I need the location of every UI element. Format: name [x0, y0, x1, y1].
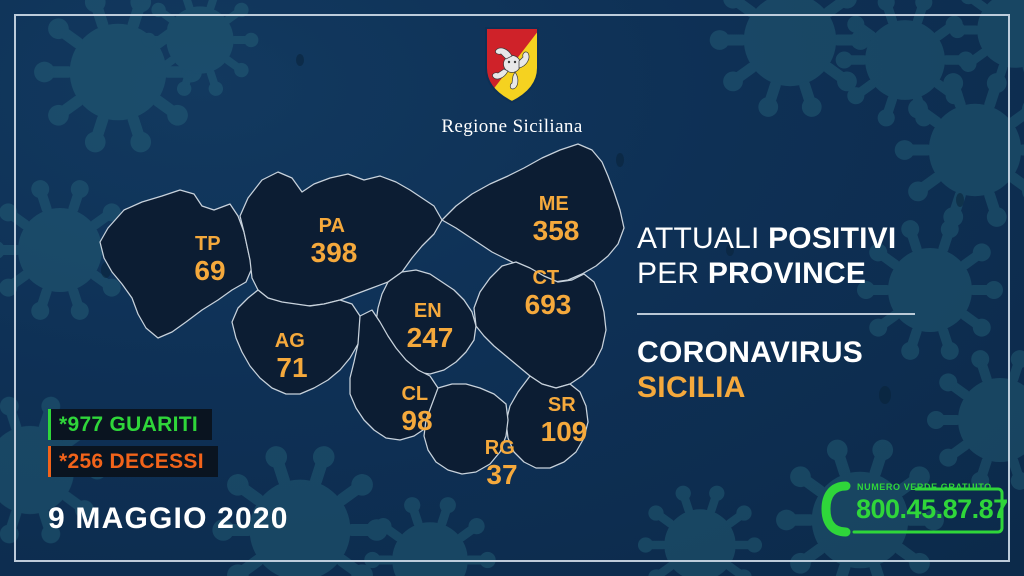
subject-coronavirus: CORONAVIRUS — [637, 335, 937, 370]
headline-line-2-bold: PROVINCE — [708, 257, 866, 290]
headline-line-1: ATTUALI POSITIVI — [637, 222, 937, 257]
toll-free-caption: NUMERO VERDE GRATUITO — [857, 482, 992, 492]
province-shape-tp[interactable] — [100, 190, 252, 338]
province-label-tp: TP 69 — [194, 233, 225, 286]
province-label-ag: AG 71 — [275, 330, 309, 383]
province-shape-me[interactable] — [442, 144, 624, 282]
report-date: 9 MAGGIO 2020 — [48, 502, 289, 536]
stat-recovered-badge: *977 GUARITI — [48, 409, 212, 440]
coat-of-arms-svg — [482, 26, 542, 104]
province-label-cl: CL 98 — [401, 383, 432, 436]
headline-divider — [637, 313, 915, 315]
recovered-label: *977 GUARITI — [59, 413, 198, 437]
deaths-accent-bar — [48, 446, 51, 477]
headline-line-1-light: ATTUALI — [637, 222, 768, 255]
toll-free-number[interactable]: 800.45.87.87 — [856, 494, 1008, 525]
headline-line-1-bold: POSITIVI — [768, 222, 896, 255]
recovered-accent-bar — [48, 409, 51, 440]
headline-block: ATTUALI POSITIVI PER PROVINCE CORONAVIRU… — [637, 222, 937, 405]
infographic-canvas: Regione Siciliana — [0, 0, 1024, 576]
province-label-me: ME 358 — [533, 193, 580, 246]
phone-handset-icon — [826, 486, 846, 532]
toll-free-number-block: NUMERO VERDE GRATUITO 800.45.87.87 — [820, 480, 1010, 538]
stat-deaths-badge: *256 DECESSI — [48, 446, 218, 477]
subject-sicilia: SICILIA — [637, 370, 937, 405]
headline-line-2-light: PER — [637, 257, 708, 290]
headline-line-2: PER PROVINCE — [637, 257, 937, 292]
deaths-label: *256 DECESSI — [59, 450, 204, 474]
sicily-coat-of-arms-icon — [482, 26, 542, 109]
province-label-rg: RG 37 — [485, 437, 519, 490]
crest-block: Regione Siciliana — [0, 26, 1024, 138]
